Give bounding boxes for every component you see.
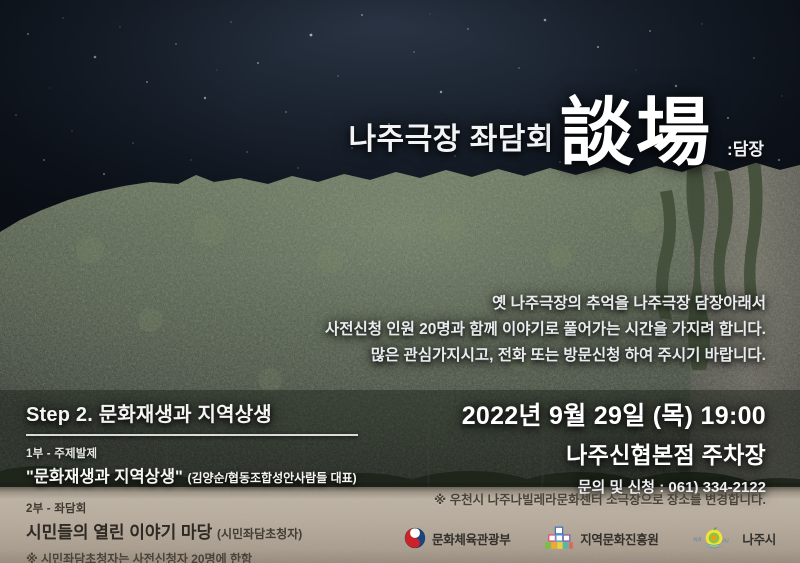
naju-city-logo-icon: NA JU	[692, 526, 736, 550]
intro-line-2: 사전신청 인원 20명과 함께 이야기로 풀어가는 시간을 가지려 합니다.	[206, 317, 766, 343]
program-part-2: 2부 - 좌담회 시민들의 열린 이야기 마당 (시민좌담초청자) ※ 시민좌담…	[26, 500, 406, 563]
svg-text:NA: NA	[694, 538, 703, 544]
sponsor-logos: 문화체육관광부 지역문화진흥원 NA JU	[404, 521, 776, 555]
part2-presenter: (시민좌담초청자)	[217, 527, 302, 541]
poster-title: 나주극장 좌담회 談場 :담장	[0, 96, 800, 164]
program-part-1: 1부 - 주제발제 "문화재생과 지역상생" (김양순/협동조합성안사람들 대표…	[26, 445, 406, 487]
taegeuk-logo-icon	[404, 527, 426, 549]
blocks-logo-icon	[544, 526, 574, 550]
part1-presenter: (김양순/협동조합성안사람들 대표)	[187, 471, 356, 485]
program-section: Step 2. 문화재생과 지역상생 1부 - 주제발제 "문화재생과 지역상생…	[26, 398, 406, 563]
part2-label: 2부 - 좌담회	[26, 500, 406, 516]
event-poster: 나주극장 좌담회 談場 :담장 옛 나주극장의 추억을 나주극장 담장아래서 사…	[0, 0, 800, 563]
title-reading: :담장	[727, 135, 764, 160]
sponsor-naju-city: NA JU 나주시	[692, 526, 776, 550]
program-step-title: Step 2. 문화재생과 지역상생	[26, 398, 406, 427]
intro-line-3: 많은 관심가지시고, 전화 또는 방문신청 하여 주시기 바랍니다.	[206, 343, 766, 369]
part1-title: "문화재생과 지역상생" (김양순/협동조합성안사람들 대표)	[26, 463, 406, 487]
title-korean: 나주극장 좌담회	[348, 114, 554, 158]
sponsor-mcst: 문화체육관광부	[404, 527, 510, 549]
svg-text:JU: JU	[722, 539, 729, 545]
sponsor-rcda-label: 지역문화진흥원	[580, 529, 658, 548]
part1-label: 1부 - 주제발제	[26, 445, 406, 461]
sponsor-rcda: 지역문화진흥원	[544, 526, 658, 550]
intro-line-1: 옛 나주극장의 추억을 나주극장 담장아래서	[206, 291, 766, 317]
part2-title-text: 시민들의 열린 이야기 마당	[26, 523, 212, 542]
part1-title-text: "문화재생과 지역상생"	[26, 468, 183, 486]
rain-notice: ※ 우천시 나주나빌레라문화센터 소극장으로 장소를 변경합니다.	[434, 489, 766, 508]
sponsor-mcst-label: 문화체육관광부	[432, 529, 510, 548]
part2-title: 시민들의 열린 이야기 마당 (시민좌담초청자)	[26, 518, 406, 543]
intro-paragraph: 옛 나주극장의 추억을 나주극장 담장아래서 사전신청 인원 20명과 함께 이…	[206, 291, 766, 369]
sponsor-naju-label: 나주시	[742, 529, 776, 548]
part2-footnote: ※ 시민좌담초청자는 사전신청자 20명에 한함	[26, 550, 406, 563]
program-divider	[26, 434, 358, 436]
title-hanja: 談場	[560, 96, 712, 170]
